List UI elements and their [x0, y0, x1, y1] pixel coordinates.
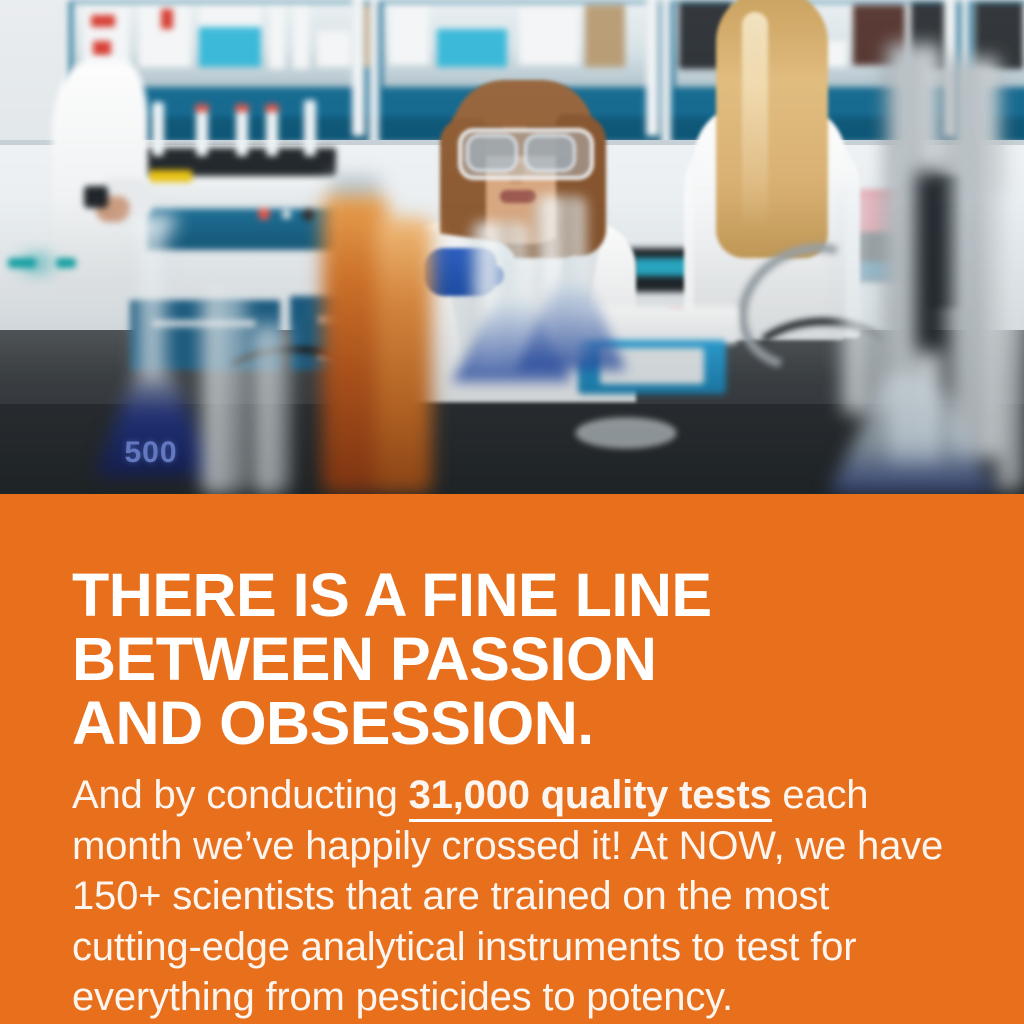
lab-photo: 500	[0, 0, 1024, 494]
instrument-led	[282, 210, 291, 219]
shelf-item	[585, 5, 625, 67]
teal-marker	[56, 258, 76, 268]
headline-line-2: BETWEEN PASSION	[72, 627, 972, 691]
glass-column	[840, 184, 886, 414]
shelf-item	[389, 5, 429, 65]
body-copy: And by conducting 31,000 quality tests e…	[72, 770, 952, 1023]
shelf-item	[199, 27, 261, 67]
lab-coat	[52, 60, 148, 290]
body-text-before: And by conducting	[72, 773, 409, 817]
headline-line-3: AND OBSESSION.	[72, 691, 972, 755]
amber-column	[376, 218, 432, 494]
mouth	[500, 190, 536, 203]
sample-tube	[236, 110, 248, 156]
cabinet-divider	[352, 0, 365, 136]
tube-cap	[265, 104, 279, 112]
safety-goggles	[458, 128, 594, 180]
petri-dish	[576, 418, 676, 448]
flask-volume-label: 500	[108, 436, 194, 470]
sample-tube	[152, 102, 164, 156]
dark-column	[916, 172, 946, 352]
quality-tests-highlight: 31,000 quality tests	[409, 773, 772, 822]
flask-neck	[136, 220, 168, 380]
sample-tube	[196, 110, 208, 156]
shelf-item	[519, 7, 579, 65]
sample-tube	[304, 100, 316, 156]
instrument-knob	[302, 208, 315, 221]
shelf-item	[93, 41, 111, 55]
shelf-item	[161, 9, 173, 29]
shelf-item	[91, 15, 115, 27]
shelf-item	[317, 31, 351, 67]
glass-column	[200, 290, 244, 494]
cabinet-divider	[646, 0, 659, 136]
sample-tube	[266, 110, 278, 156]
shelf-item	[437, 29, 507, 67]
instrument-yellow-accent	[148, 170, 192, 182]
glass-column	[996, 190, 1024, 490]
tube-cap	[235, 104, 249, 112]
hair	[716, 0, 828, 258]
tube-cap	[195, 104, 209, 112]
headline-line-1: THERE IS A FINE LINE	[72, 563, 972, 627]
steel-column	[950, 58, 1000, 458]
hair-highlight	[742, 12, 768, 232]
instrument-led	[258, 208, 270, 220]
poster: 500 THERE IS A FINE LINE BETWEEN PASSION…	[0, 0, 1024, 1024]
orange-message-panel: THERE IS A FINE LINE BETWEEN PASSION AND…	[0, 494, 1024, 1024]
teal-marker	[24, 258, 50, 269]
shelf-item	[199, 5, 261, 27]
shelf-item	[293, 3, 309, 69]
glass-column	[252, 324, 288, 494]
page-title: THERE IS A FINE LINE BETWEEN PASSION AND…	[72, 563, 972, 755]
handheld-device	[84, 186, 108, 208]
shelf-item	[269, 3, 285, 69]
